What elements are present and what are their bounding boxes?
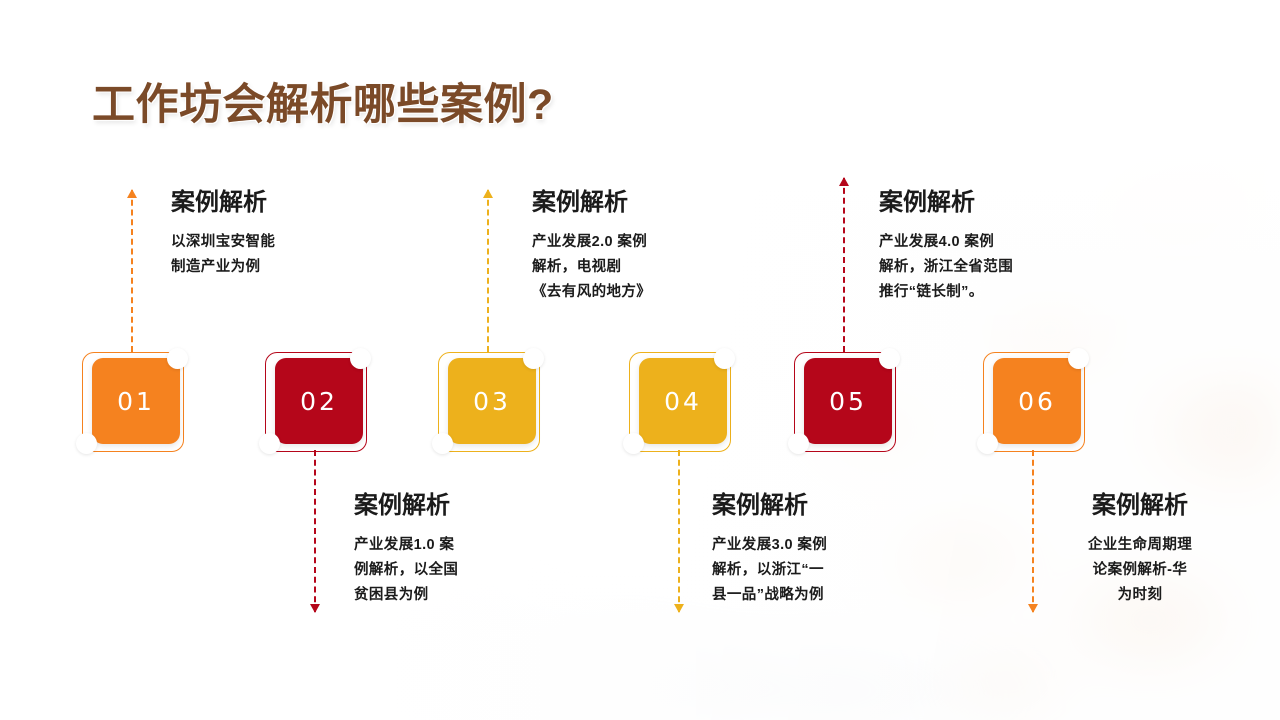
step-card-03[interactable]: 03 [438,352,538,450]
page-title: 工作坊会解析哪些案例? [92,70,554,132]
corner-dot-bottom-left-icon [432,433,453,454]
connector-line [314,450,316,612]
step-body: 产业发展4.0 案例 解析，浙江全省范围 推行“链长制”。 [879,230,1013,305]
corner-dot-bottom-left-icon [788,433,809,454]
corner-dot-bottom-left-icon [259,433,280,454]
step-heading: 案例解析 [532,182,651,217]
step-body: 产业发展2.0 案例 解析，电视剧 《去有风的地方》 [532,230,651,305]
corner-dot-top-right-icon [167,348,188,369]
card-number: 04 [639,358,727,444]
step-heading: 案例解析 [354,485,458,520]
corner-dot-bottom-left-icon [76,433,97,454]
step-card-06[interactable]: 06 [983,352,1083,450]
step-text-01: 案例解析 以深圳宝安智能 制造产业为例 [171,182,275,280]
connector-line [487,190,489,352]
corner-dot-top-right-icon [879,348,900,369]
arrow-head-up-icon [483,189,493,198]
connector-line [843,178,845,352]
card-number: 03 [448,358,536,444]
corner-dot-bottom-left-icon [623,433,644,454]
corner-dot-top-right-icon [350,348,371,369]
step-text-03: 案例解析 产业发展2.0 案例 解析，电视剧 《去有风的地方》 [532,182,651,305]
step-heading: 案例解析 [879,182,1013,217]
connector-line [678,450,680,612]
card-number: 01 [92,358,180,444]
connector-arrow-03 [487,190,489,352]
card-number: 02 [275,358,363,444]
step-body: 企业生命周期理 论案例解析-华 为时刻 [1066,533,1214,608]
step-text-04: 案例解析 产业发展3.0 案例 解析，以浙江“一 县一品”战略为例 [712,485,827,608]
step-body: 产业发展1.0 案 例解析，以全国 贫困县为例 [354,533,458,608]
corner-dot-top-right-icon [523,348,544,369]
connector-arrow-04 [678,450,680,612]
step-body: 以深圳宝安智能 制造产业为例 [171,230,275,280]
step-text-06: 案例解析 企业生命周期理 论案例解析-华 为时刻 [1066,485,1214,608]
arrow-head-down-icon [310,604,320,613]
arrow-head-down-icon [1028,604,1038,613]
connector-line [1032,450,1034,612]
arrow-head-down-icon [674,604,684,613]
arrow-head-up-icon [839,177,849,186]
step-heading: 案例解析 [712,485,827,520]
connector-arrow-01 [131,190,133,352]
slide-canvas: 工作坊会解析哪些案例? 01 案例解析 以深圳宝安智能 制造产业为例 02 案例… [0,0,1280,720]
step-heading: 案例解析 [171,182,275,217]
arrow-head-up-icon [127,189,137,198]
step-heading: 案例解析 [1066,485,1214,520]
connector-arrow-06 [1032,450,1034,612]
connector-arrow-05 [843,178,845,352]
step-text-02: 案例解析 产业发展1.0 案 例解析，以全国 贫困县为例 [354,485,458,608]
corner-dot-top-right-icon [1068,348,1089,369]
card-number: 05 [804,358,892,444]
card-number: 06 [993,358,1081,444]
corner-dot-bottom-left-icon [977,433,998,454]
step-card-05[interactable]: 05 [794,352,894,450]
connector-line [131,190,133,352]
step-card-02[interactable]: 02 [265,352,365,450]
step-card-01[interactable]: 01 [82,352,182,450]
step-body: 产业发展3.0 案例 解析，以浙江“一 县一品”战略为例 [712,533,827,608]
connector-arrow-02 [314,450,316,612]
corner-dot-top-right-icon [714,348,735,369]
step-text-05: 案例解析 产业发展4.0 案例 解析，浙江全省范围 推行“链长制”。 [879,182,1013,305]
step-card-04[interactable]: 04 [629,352,729,450]
